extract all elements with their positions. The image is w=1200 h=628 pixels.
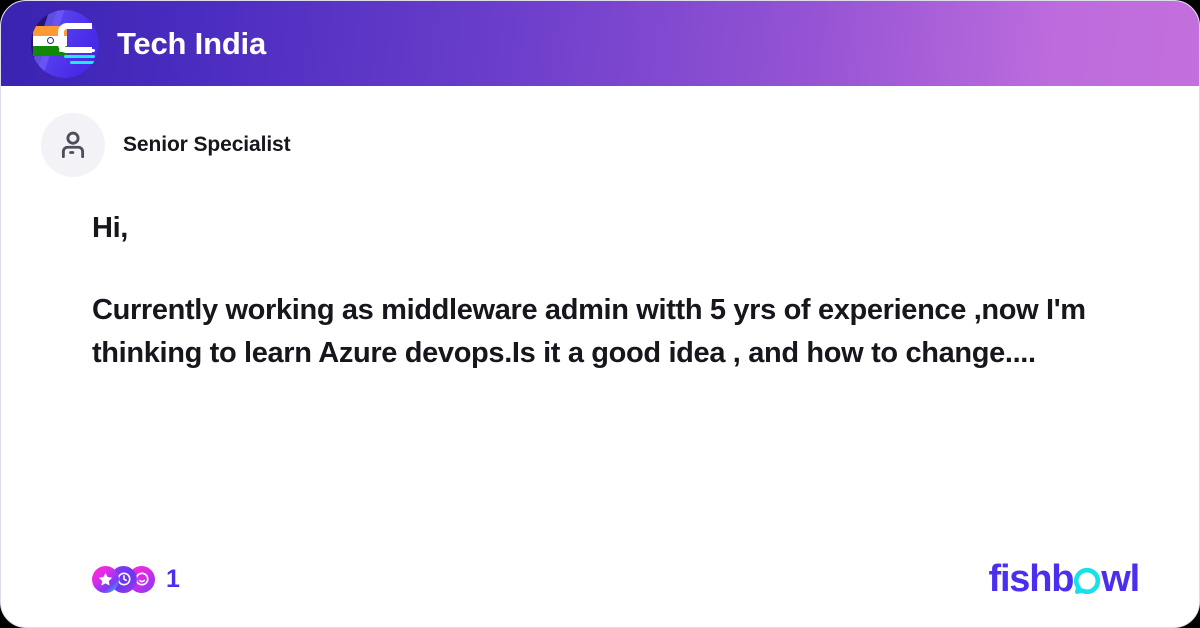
post-line-2: Currently working as middleware admin wi… (92, 289, 1153, 375)
post-text: Hi, Currently working as middleware admi… (41, 207, 1159, 376)
star-reaction-icon[interactable] (92, 566, 119, 593)
fishbowl-logo: fishb wl (989, 560, 1140, 598)
person-icon (56, 128, 90, 162)
fishbowl-text-after: wl (1101, 560, 1139, 598)
post-footer: 1 fishb wl (1, 531, 1199, 627)
tech-india-circular-logo (31, 10, 99, 78)
fishbowl-o-glyph (1074, 568, 1100, 594)
author-row[interactable]: Senior Specialist (41, 113, 1159, 177)
logo-stripes (59, 49, 95, 67)
post-body-region: Senior Specialist Hi, Currently working … (1, 86, 1199, 627)
fishbowl-text-before: fishb (989, 560, 1074, 598)
group-title: Tech India (117, 28, 266, 59)
group-header: Tech India (1, 1, 1199, 86)
reaction-badge-stack[interactable] (92, 566, 155, 593)
post-line-1: Hi, (92, 207, 1153, 250)
avatar (41, 113, 105, 177)
reaction-count: 1 (166, 565, 180, 594)
reactions-group[interactable]: 1 (92, 565, 180, 594)
author-name: Senior Specialist (123, 133, 291, 157)
fishbowl-o-icon (1074, 568, 1100, 594)
star-glyph (97, 571, 114, 588)
post-card: Tech India Senior Specialist Hi, Current… (0, 0, 1200, 628)
